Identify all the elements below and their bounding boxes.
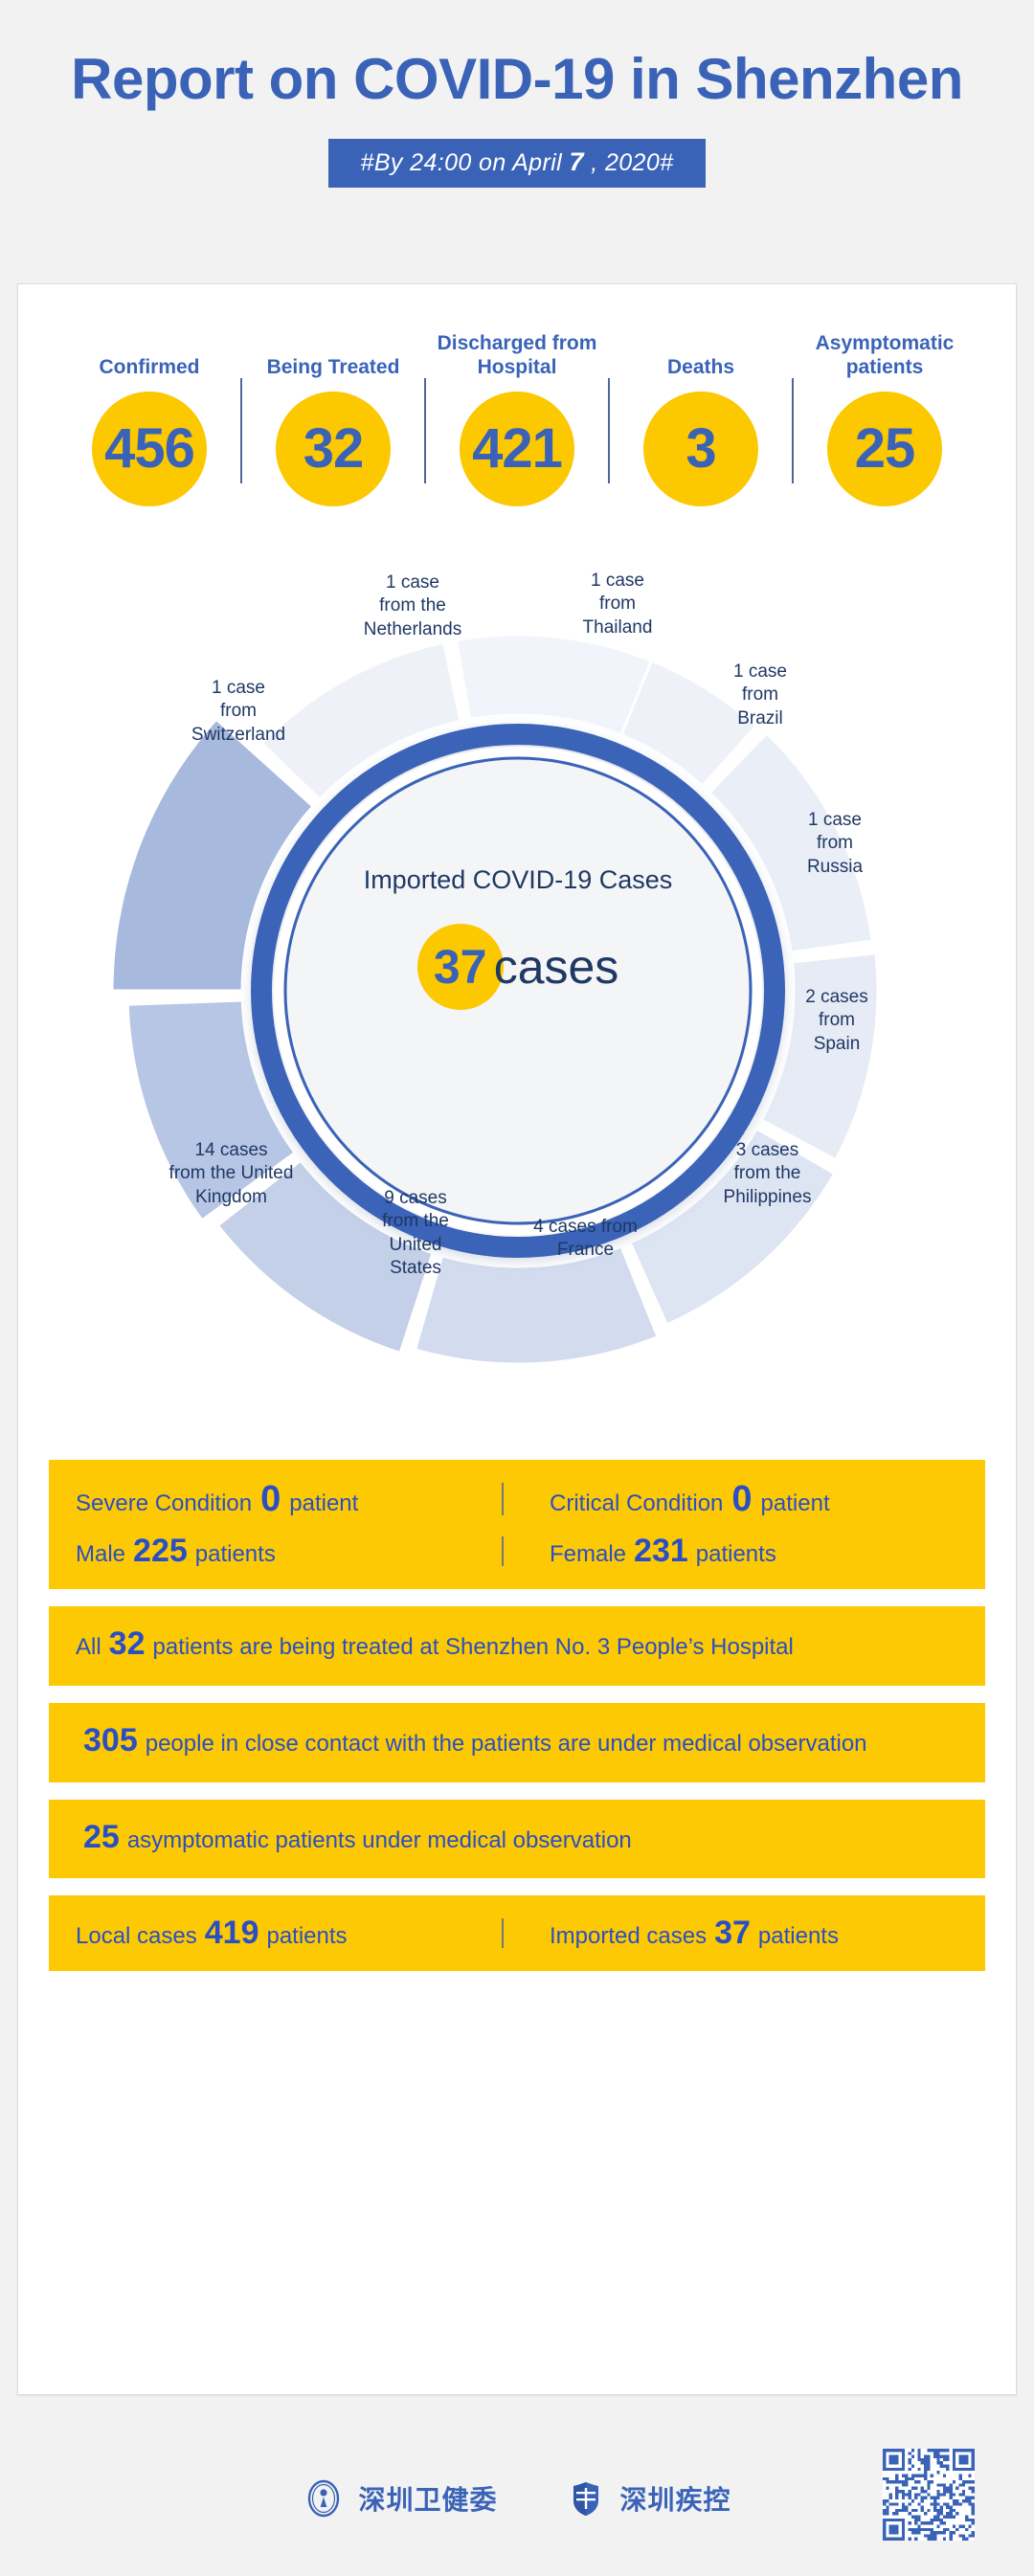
hospital-line: All32patients are being treated at Shenz… [76, 1627, 958, 1665]
stat-circle: 456 [92, 392, 207, 506]
severe-unit: patient [289, 1490, 358, 1517]
female-count: Female 231 patients [521, 1534, 958, 1568]
local-imported-row: Local cases 419 patients Imported cases … [76, 1916, 958, 1950]
stat-value: 25 [855, 421, 915, 477]
contacts-line: 305people in close contact with the pati… [76, 1724, 958, 1761]
health-commission-logo-icon [303, 2477, 345, 2520]
summary-stats-row: Confirmed 456 Being Treated 32 Discharge… [18, 284, 1016, 506]
report-date-badge: #By 24:00 on April 7 , 2020# [328, 139, 707, 188]
female-value: 231 [626, 1534, 696, 1567]
contacts-text: people in close contact with the patient… [146, 1731, 867, 1757]
subtitle-day: 7 [569, 147, 583, 176]
stat-divider [608, 378, 610, 483]
bar-divider [502, 1536, 504, 1566]
stat-circle: 3 [643, 392, 758, 506]
header: Report on COVID-19 in Shenzhen #By 24:00… [0, 0, 1034, 188]
bar-hospital: All32patients are being treated at Shenz… [49, 1606, 985, 1686]
page-title: Report on COVID-19 in Shenzhen [0, 46, 1034, 112]
stat-discharged: Discharged from Hospital 421 [432, 328, 602, 506]
stat-deaths: Deaths 3 [616, 328, 786, 506]
org-cdc: 深圳疾控 [565, 2477, 731, 2520]
critical-value: 0 [723, 1481, 760, 1517]
imported-value: 37 [707, 1916, 758, 1949]
donut-segment-philippines [416, 1246, 659, 1364]
stat-label: Being Treated [248, 328, 418, 380]
bar-divider [502, 1483, 504, 1515]
donut-segment-netherlands [456, 635, 651, 735]
local-unit: patients [266, 1923, 347, 1950]
donut-count-unit: cases [494, 939, 619, 995]
stat-label: Confirmed [64, 328, 235, 380]
org-health-commission-name: 深圳卫健委 [358, 2479, 497, 2518]
severe-value: 0 [252, 1481, 289, 1517]
stat-value: 421 [472, 421, 562, 477]
imported-cases: Imported cases 37 patients [521, 1916, 958, 1950]
gender-row: Male 225 patients Female 231 patients [76, 1534, 958, 1568]
severe-label: Severe Condition [76, 1490, 252, 1517]
donut-center-title: Imported COVID-19 Cases [18, 864, 1018, 895]
subtitle-prefix: #By 24:00 on April [361, 149, 563, 176]
imported-unit: patients [758, 1923, 839, 1950]
bar-asymptomatic: 25asymptomatic patients under medical ob… [49, 1800, 985, 1879]
critical-label: Critical Condition [550, 1490, 723, 1517]
stat-circle: 421 [460, 392, 574, 506]
hospital-suffix: patients are being treated at Shenzhen N… [153, 1634, 794, 1660]
male-label: Male [76, 1541, 125, 1568]
stat-value: 32 [303, 421, 364, 477]
hospital-value: 32 [101, 1625, 153, 1662]
contacts-value: 305 [76, 1722, 146, 1758]
male-unit: patients [195, 1541, 276, 1568]
stat-label: Asymptomatic patients [799, 328, 970, 380]
qr-code-icon[interactable] [883, 2449, 975, 2541]
male-count: Male 225 patients [76, 1534, 484, 1568]
stat-circle: 32 [276, 392, 391, 506]
asymptomatic-value: 25 [76, 1819, 127, 1855]
male-value: 225 [125, 1534, 195, 1567]
donut-count-bubble: 37 [417, 924, 504, 1010]
bar-close-contacts: 305people in close contact with the pati… [49, 1703, 985, 1782]
imported-label: Imported cases [550, 1923, 707, 1950]
org-health-commission: 深圳卫健委 [303, 2477, 497, 2520]
qr-code[interactable] [883, 2449, 975, 2541]
cdc-shield-logo-icon [565, 2477, 607, 2520]
footer: 深圳卫健委 深圳疾控 [0, 2422, 1034, 2575]
bar-local-imported: Local cases 419 patients Imported cases … [49, 1895, 985, 1971]
stat-asymptomatic: Asymptomatic patients 25 [799, 328, 970, 506]
spacer [76, 1517, 958, 1534]
critical-condition: Critical Condition 0 patient [521, 1481, 958, 1517]
stat-label: Discharged from Hospital [432, 328, 602, 380]
summary-bars: Severe Condition 0 patient Critical Cond… [18, 1460, 1016, 1971]
subtitle-container: #By 24:00 on April 7 , 2020# [0, 139, 1034, 188]
hospital-prefix: All [76, 1634, 101, 1660]
asymptomatic-text: asymptomatic patients under medical obse… [127, 1827, 632, 1853]
stat-divider [792, 378, 794, 483]
critical-unit: patient [761, 1490, 830, 1517]
donut-center-count: 37 cases [18, 924, 1018, 1010]
subtitle-suffix: , 2020# [591, 149, 673, 176]
infographic-page: Report on COVID-19 in Shenzhen #By 24:00… [0, 0, 1034, 2576]
stat-divider [240, 378, 242, 483]
bar-divider [502, 1918, 504, 1948]
conditions-row: Severe Condition 0 patient Critical Cond… [76, 1481, 958, 1517]
main-card: Confirmed 456 Being Treated 32 Discharge… [17, 283, 1017, 2395]
local-value: 419 [197, 1916, 267, 1949]
asymptomatic-line: 25asymptomatic patients under medical ob… [76, 1821, 958, 1858]
severe-condition: Severe Condition 0 patient [76, 1481, 484, 1517]
imported-cases-donut-chart: Imported COVID-19 Cases 37 cases 1 casef… [18, 512, 1018, 1450]
stat-circle: 25 [827, 392, 942, 506]
stat-value: 3 [686, 421, 715, 477]
bar-conditions-gender: Severe Condition 0 patient Critical Cond… [49, 1460, 985, 1589]
stat-label: Deaths [616, 328, 786, 380]
female-label: Female [550, 1541, 626, 1568]
local-label: Local cases [76, 1923, 197, 1950]
female-unit: patients [696, 1541, 776, 1568]
local-cases: Local cases 419 patients [76, 1916, 484, 1950]
stat-being-treated: Being Treated 32 [248, 328, 418, 506]
stat-value: 456 [104, 421, 194, 477]
org-cdc-name: 深圳疾控 [620, 2479, 731, 2518]
stat-divider [424, 378, 426, 483]
stat-confirmed: Confirmed 456 [64, 328, 235, 506]
